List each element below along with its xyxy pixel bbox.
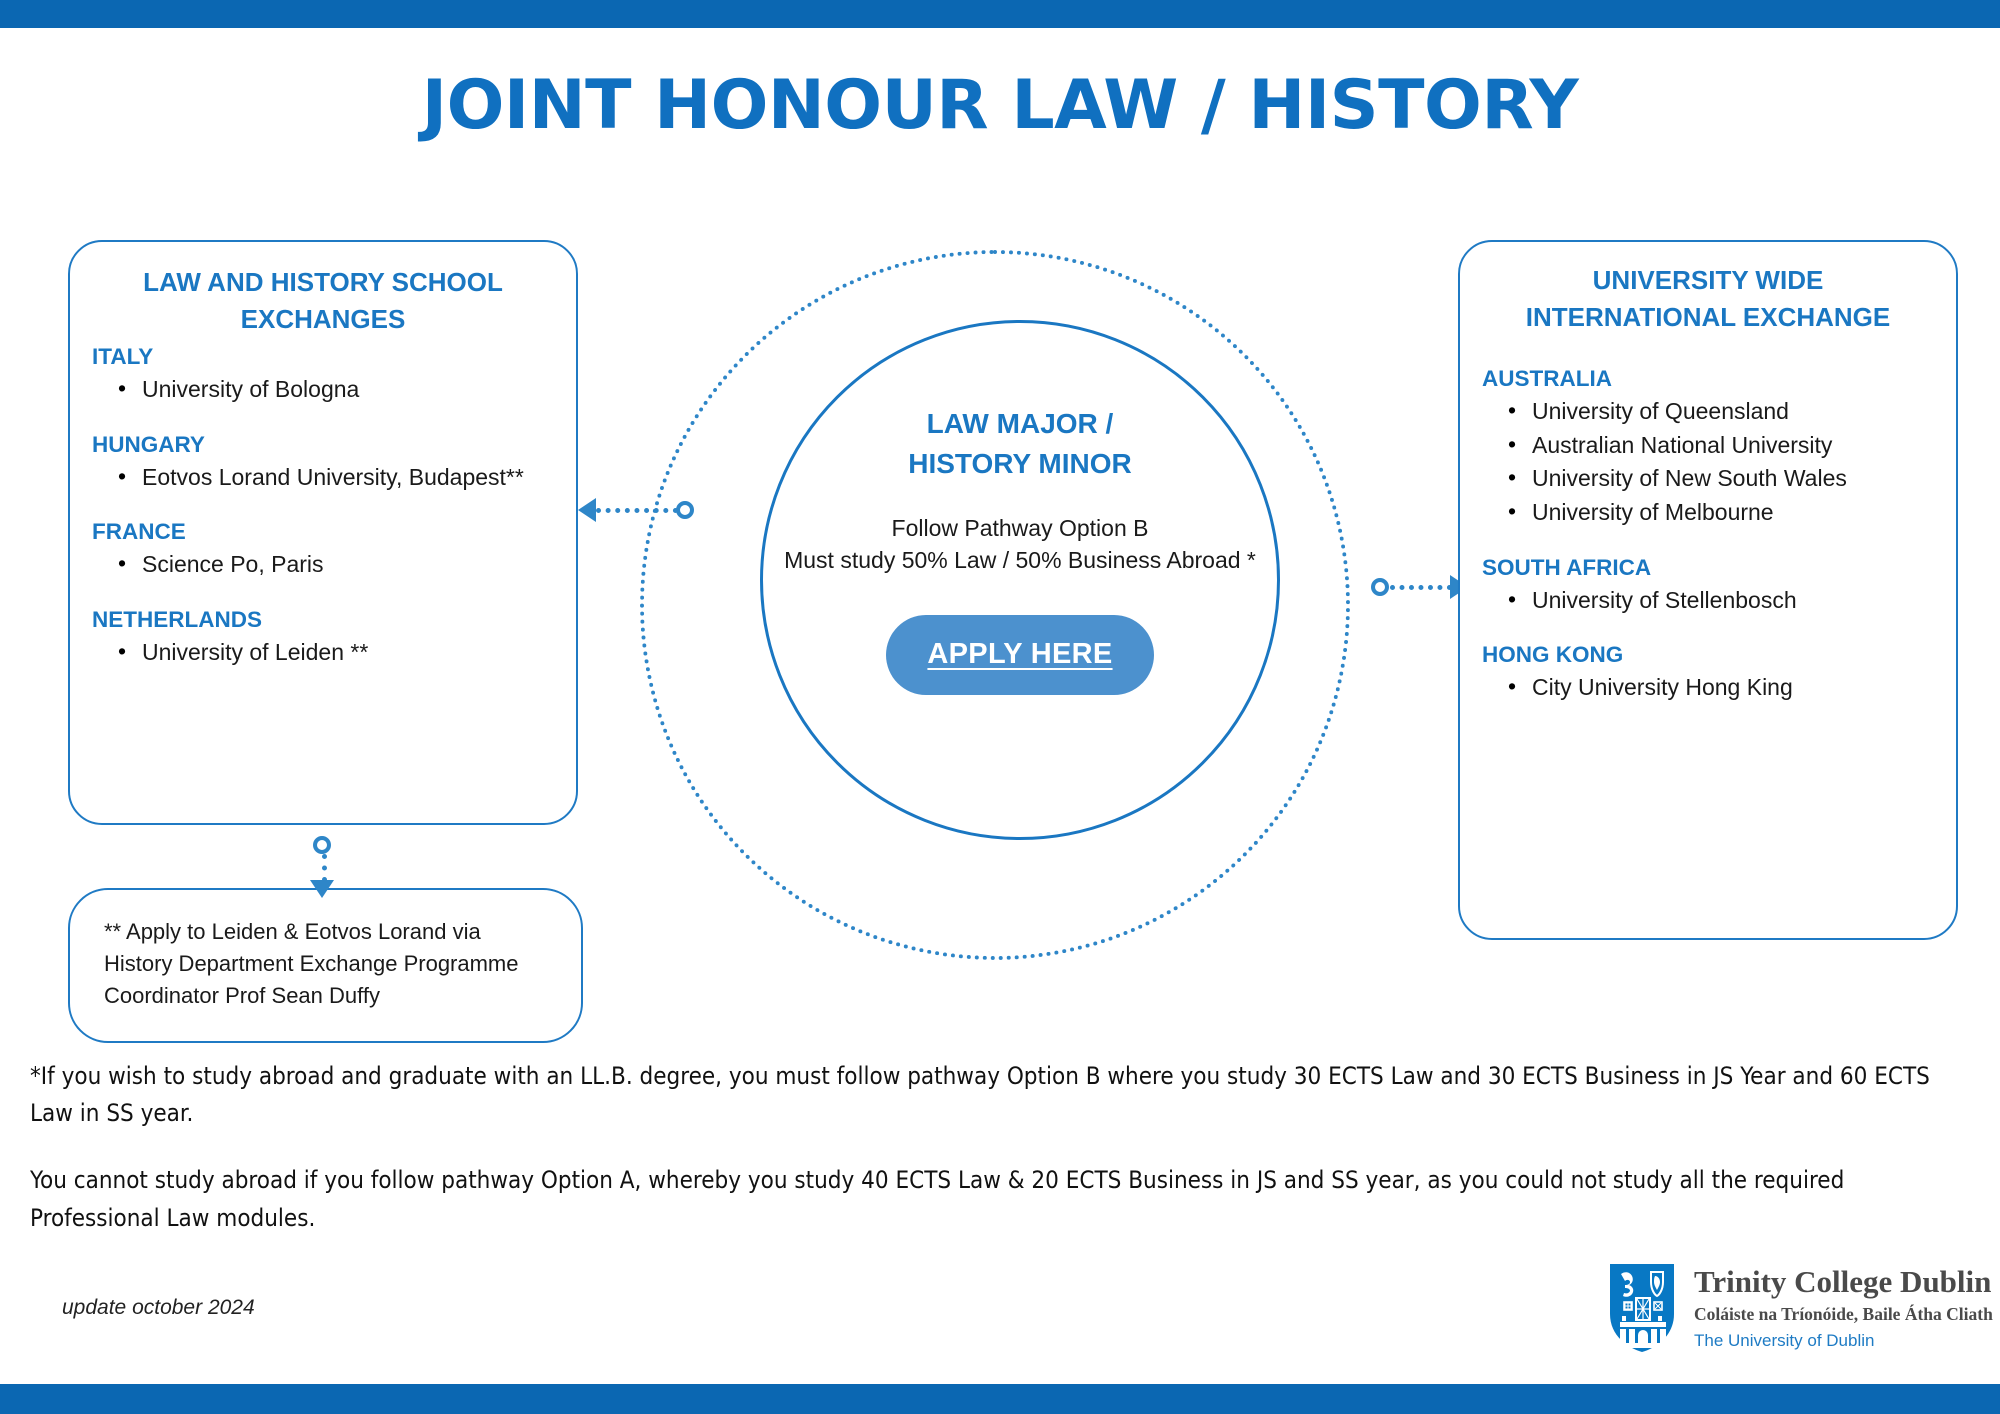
footnote-line-3: Coordinator Prof Sean Duffy: [104, 980, 551, 1012]
country-group: SOUTH AFRICA University of Stellenbosch: [1482, 555, 1936, 617]
school-list: Eotvos Lorand University, Budapest**: [92, 462, 556, 494]
country-label: SOUTH AFRICA: [1482, 555, 1936, 581]
right-panel-heading-line1: UNIVERSITY WIDE: [1486, 262, 1930, 299]
country-group: HUNGARY Eotvos Lorand University, Budape…: [92, 432, 556, 494]
connector-knob-icon: [676, 501, 694, 519]
right-exchanges-panel: UNIVERSITY WIDE INTERNATIONAL EXCHANGE A…: [1458, 240, 1958, 940]
center-content: LAW MAJOR / HISTORY MINOR Follow Pathway…: [760, 320, 1280, 840]
school-list: University of Stellenbosch: [1482, 585, 1936, 617]
bottom-accent-bar: [0, 1384, 2000, 1414]
left-panel-heading-line1: LAW AND HISTORY SCHOOL: [96, 264, 550, 301]
school-list: City University Hong King: [1482, 672, 1936, 704]
country-group: AUSTRALIA University of Queensland Austr…: [1482, 366, 1936, 529]
apply-here-label: APPLY HERE: [927, 638, 1112, 671]
left-panel-heading: LAW AND HISTORY SCHOOL EXCHANGES: [96, 264, 550, 338]
list-item: University of Melbourne: [1482, 497, 1936, 529]
page-title: JOINT HONOUR LAW / HISTORY: [0, 66, 2000, 145]
footnote-box-text: ** Apply to Leiden & Eotvos Lorand via H…: [70, 890, 581, 1012]
connector-dotted-line: [596, 508, 678, 513]
center-subtext-line2: Must study 50% Law / 50% Business Abroad…: [784, 544, 1256, 577]
list-item: University of Bologna: [92, 374, 556, 406]
school-list: University of Bologna: [92, 374, 556, 406]
footnote-line-1: ** Apply to Leiden & Eotvos Lorand via: [104, 916, 551, 948]
center-subtext-line1: Follow Pathway Option B: [784, 512, 1256, 545]
logo-line-3: The University of Dublin: [1694, 1331, 1993, 1351]
footnotes-section: *If you wish to study abroad and graduat…: [30, 1058, 1972, 1267]
connector-knob-icon: [313, 836, 331, 854]
list-item: University of Leiden **: [92, 637, 556, 669]
footnote-line-2: History Department Exchange Programme: [104, 948, 551, 980]
center-subtext: Follow Pathway Option B Must study 50% L…: [784, 512, 1256, 577]
list-item: City University Hong King: [1482, 672, 1936, 704]
list-item: Science Po, Paris: [92, 549, 556, 581]
logo-line-1: Trinity College Dublin: [1694, 1266, 1993, 1299]
footnote-box: ** Apply to Leiden & Eotvos Lorand via H…: [68, 888, 583, 1043]
apply-here-button[interactable]: APPLY HERE: [886, 615, 1154, 695]
school-list: University of Queensland Australian Nati…: [1482, 396, 1936, 529]
list-item: University of Queensland: [1482, 396, 1936, 428]
list-item: University of Stellenbosch: [1482, 585, 1936, 617]
tcd-crest-icon: [1608, 1262, 1676, 1354]
country-label: ITALY: [92, 344, 556, 370]
top-accent-bar: [0, 0, 2000, 28]
list-item: University of New South Wales: [1482, 463, 1936, 495]
country-group: ITALY University of Bologna: [92, 344, 556, 406]
left-panel-body: ITALY University of Bologna HUNGARY Eotv…: [70, 338, 576, 669]
country-label: FRANCE: [92, 519, 556, 545]
connector-knob-icon: [1371, 578, 1389, 596]
update-date-note: update october 2024: [62, 1296, 255, 1320]
trinity-college-dublin-logo: Trinity College Dublin Coláiste na Tríon…: [1608, 1262, 1993, 1354]
country-label: HONG KONG: [1482, 642, 1936, 668]
footnote-paragraph-1: *If you wish to study abroad and graduat…: [30, 1058, 1972, 1132]
connector-dotted-line: [1390, 585, 1452, 590]
country-group: FRANCE Science Po, Paris: [92, 519, 556, 581]
footnote-paragraph-2: You cannot study abroad if you follow pa…: [30, 1162, 1972, 1236]
arrow-down-icon: [310, 880, 334, 898]
right-panel-heading: UNIVERSITY WIDE INTERNATIONAL EXCHANGE: [1486, 262, 1930, 336]
list-item: Australian National University: [1482, 430, 1936, 462]
left-exchanges-panel: LAW AND HISTORY SCHOOL EXCHANGES ITALY U…: [68, 240, 578, 825]
list-item: Eotvos Lorand University, Budapest**: [92, 462, 556, 494]
center-title-line2: HISTORY MINOR: [908, 444, 1132, 484]
connector-dotted-line: [322, 854, 327, 882]
left-panel-heading-line2: EXCHANGES: [96, 301, 550, 338]
logo-line-2: Coláiste na Tríonóide, Baile Átha Cliath: [1694, 1304, 1993, 1325]
school-list: Science Po, Paris: [92, 549, 556, 581]
arrow-left-icon: [578, 498, 596, 522]
right-panel-heading-line2: INTERNATIONAL EXCHANGE: [1486, 299, 1930, 336]
country-group: HONG KONG City University Hong King: [1482, 642, 1936, 704]
country-label: NETHERLANDS: [92, 607, 556, 633]
country-group: NETHERLANDS University of Leiden **: [92, 607, 556, 669]
right-panel-body: AUSTRALIA University of Queensland Austr…: [1460, 336, 1956, 704]
country-label: AUSTRALIA: [1482, 366, 1936, 392]
center-title-line1: LAW MAJOR /: [908, 404, 1132, 444]
country-label: HUNGARY: [92, 432, 556, 458]
center-title: LAW MAJOR / HISTORY MINOR: [908, 404, 1132, 484]
logo-wordmark: Trinity College Dublin Coláiste na Tríon…: [1694, 1262, 1993, 1351]
school-list: University of Leiden **: [92, 637, 556, 669]
